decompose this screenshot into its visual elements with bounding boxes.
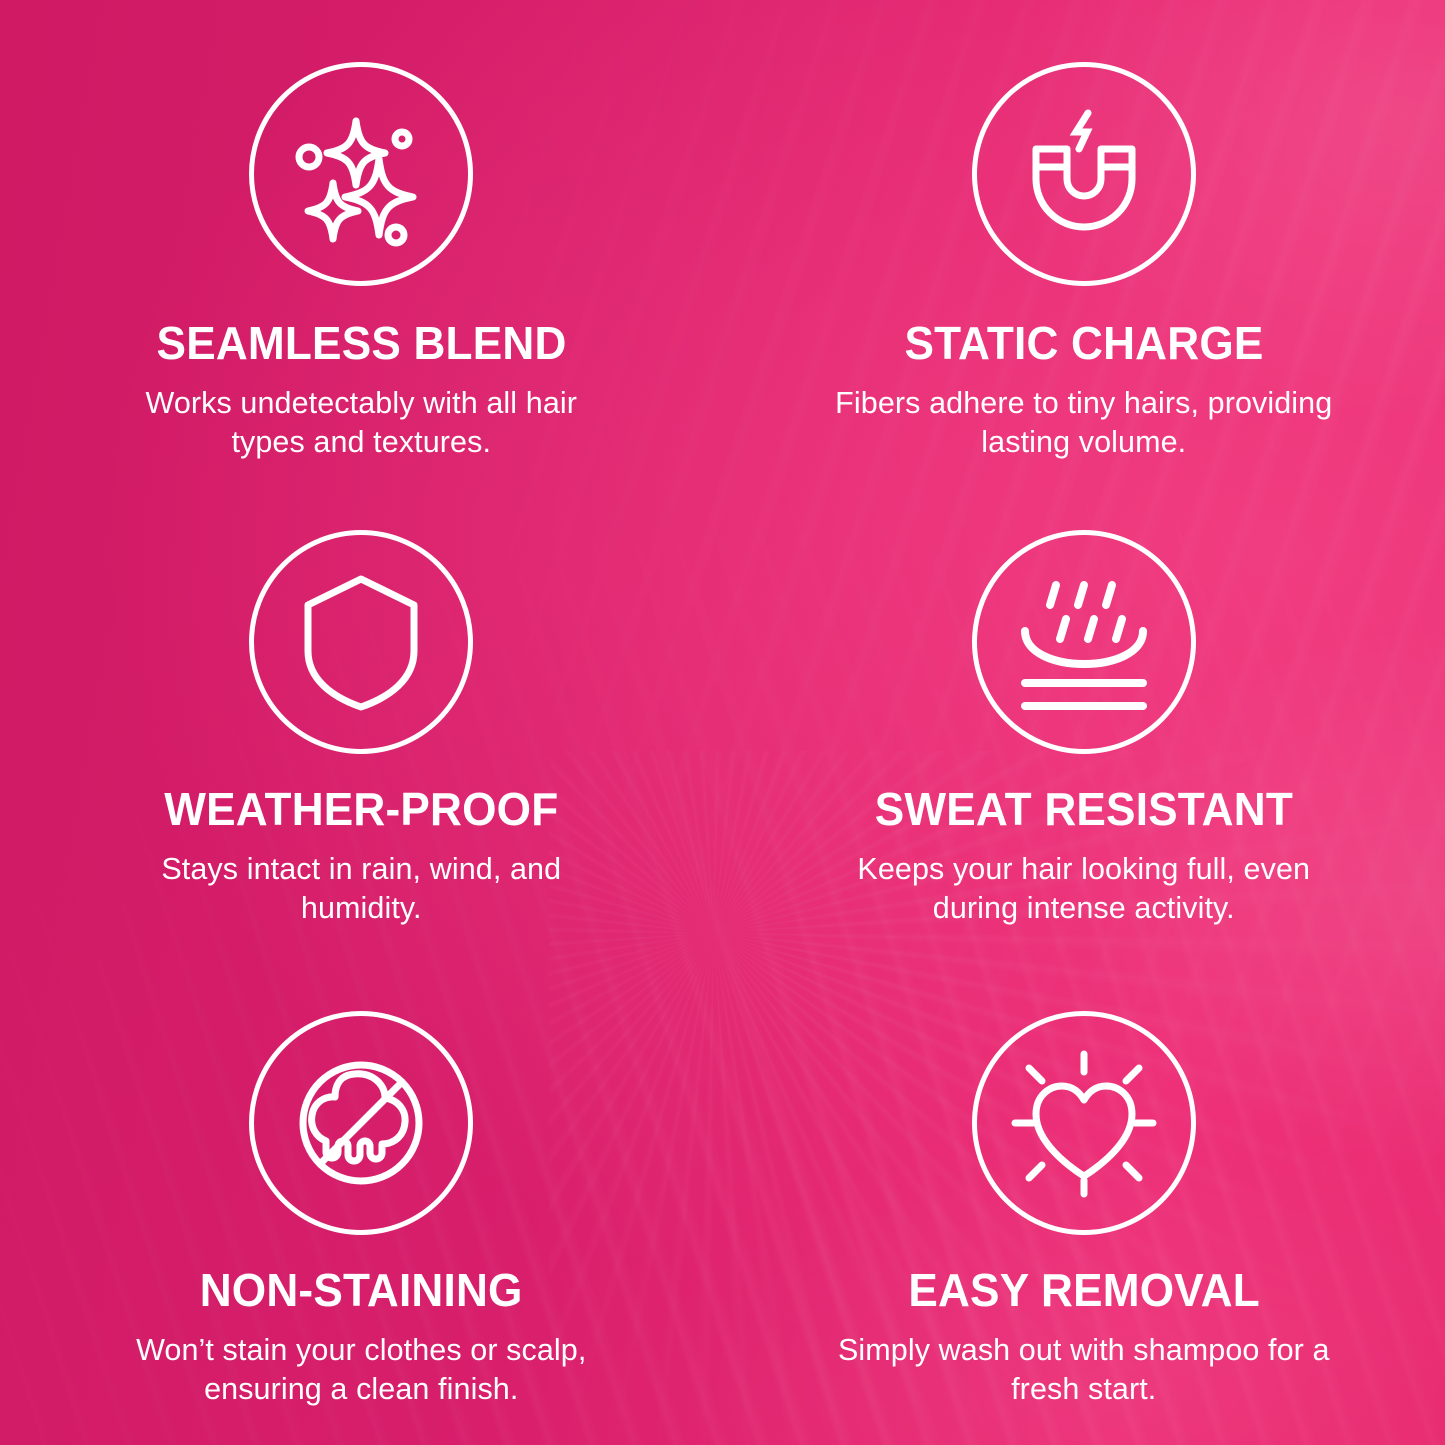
feature-card-static-charge: STATIC CHARGE Fibers adhere to tiny hair… [723, 0, 1445, 482]
feature-title: EASY REMOVAL [908, 1267, 1260, 1313]
feature-card-sweat-resistant: SWEAT RESISTANT Keeps your hair looking … [723, 482, 1445, 964]
feature-title: SWEAT RESISTANT [875, 786, 1293, 832]
feature-card-easy-removal: EASY REMOVAL Simply wash out with shampo… [723, 963, 1445, 1445]
shield-icon [249, 530, 473, 754]
feature-card-seamless-blend: SEAMLESS BLEND Works undetectably with a… [0, 0, 723, 482]
feature-description: Stays intact in rain, wind, and humidity… [111, 850, 611, 928]
feature-description: Works undetectably with all hair types a… [111, 384, 611, 462]
no-stain-icon [249, 1011, 473, 1235]
feature-description: Keeps your hair looking full, even durin… [834, 850, 1334, 928]
sparkle-icon [249, 62, 473, 286]
feature-grid: SEAMLESS BLEND Works undetectably with a… [0, 0, 1445, 1445]
shining-heart-icon [972, 1011, 1196, 1235]
feature-description: Won’t stain your clothes or scalp, ensur… [111, 1331, 611, 1409]
magnet-static-icon [972, 62, 1196, 286]
feature-description: Simply wash out with shampoo for a fresh… [834, 1331, 1334, 1409]
feature-title: WEATHER-PROOF [164, 786, 558, 832]
feature-description: Fibers adhere to tiny hairs, providing l… [834, 384, 1334, 462]
sweat-droplets-icon [972, 530, 1196, 754]
feature-card-weather-proof: WEATHER-PROOF Stays intact in rain, wind… [0, 482, 723, 964]
feature-title: SEAMLESS BLEND [156, 320, 566, 366]
feature-card-non-staining: NON-STAINING Won’t stain your clothes or… [0, 963, 723, 1445]
feature-title: NON-STAINING [200, 1267, 523, 1313]
feature-title: STATIC CHARGE [904, 320, 1263, 366]
